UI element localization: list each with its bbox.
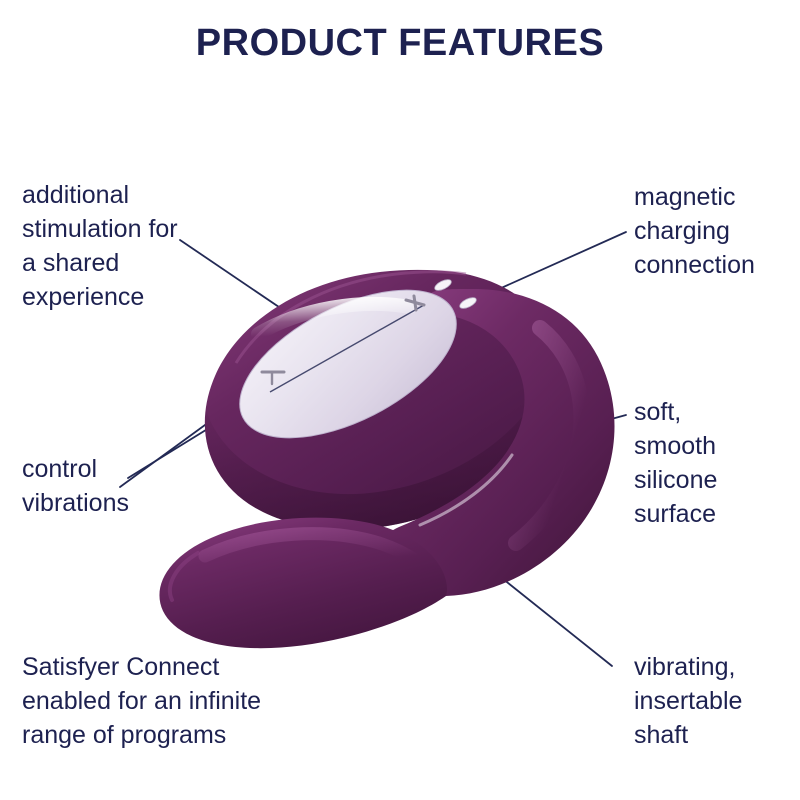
hook-surface — [378, 289, 614, 596]
upper-pad-surface — [205, 270, 558, 530]
callout-vibrating-shaft: vibrating, insertable shaft — [634, 650, 800, 752]
leader-magnetic-charging — [470, 232, 626, 302]
upper-pad — [205, 270, 558, 530]
page-title: PRODUCT FEATURES — [0, 22, 800, 65]
plus-button[interactable] — [406, 296, 424, 310]
control-panel-sheen — [258, 304, 410, 334]
control-panel-divider — [270, 305, 424, 392]
charging-contact-2 — [458, 295, 478, 310]
hook-inner-crease — [420, 455, 512, 525]
callout-satisfyer-connect: Satisfyer Connect enabled for an infinit… — [22, 650, 352, 752]
control-panel-surface[interactable] — [217, 260, 479, 469]
callout-soft-silicone: soft, smooth silicone surface — [634, 395, 794, 531]
charging-contact-1 — [433, 277, 453, 292]
insertable-shaft — [159, 518, 447, 649]
leader-soft-silicone — [531, 415, 626, 441]
leader-vibrating-shaft — [463, 547, 612, 666]
upper-pad-shadow — [205, 354, 558, 530]
hook-bend — [378, 289, 614, 596]
leader-satisfyer-connect — [272, 594, 332, 645]
product-features-infographic: PRODUCT FEATURES — [0, 0, 800, 800]
magnetic-charging-contacts — [433, 277, 478, 310]
hook-highlight — [516, 328, 582, 543]
shaft-tip-highlight — [170, 553, 198, 600]
upper-pad-rim-highlight — [236, 272, 466, 363]
shaft-highlight — [205, 534, 435, 579]
callout-magnetic-charging: magnetic charging connection — [634, 180, 800, 282]
plus-button-bar-h[interactable] — [406, 300, 424, 305]
control-panel[interactable] — [217, 260, 479, 469]
callout-additional-stimulation: additional stimulation for a shared expe… — [22, 178, 252, 314]
shaft-surface — [159, 518, 447, 649]
minus-button[interactable] — [262, 372, 284, 384]
callout-control-vibrations: control vibrations — [22, 452, 232, 520]
plus-button-bar-v[interactable] — [414, 296, 416, 310]
